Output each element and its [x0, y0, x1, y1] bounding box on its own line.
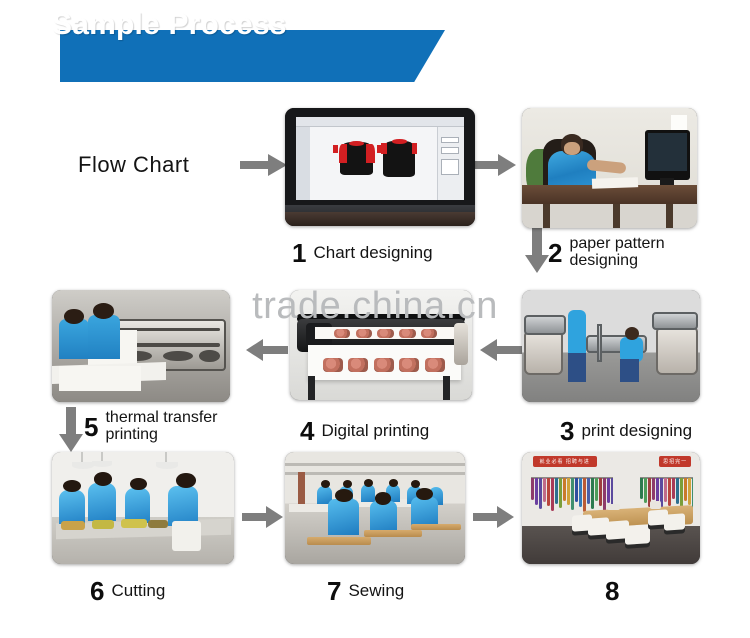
- flow-chart-heading: Flow Chart: [78, 152, 189, 178]
- arrow-flowchart-to-step1-icon: [240, 152, 288, 178]
- step-7-photo: [285, 452, 465, 564]
- arrow-step1-to-step2-icon: [473, 152, 517, 178]
- arrow-step3-to-step4-icon: [480, 337, 522, 363]
- step-1-label: Chart designing: [313, 244, 432, 262]
- step-3-caption: 3 print designing: [560, 418, 692, 444]
- step-8-photo: 就业必看 招聘与进 思招完一: [522, 452, 700, 564]
- arrow-step4-to-step5-icon: [246, 337, 288, 363]
- step-6-label: Cutting: [111, 582, 165, 600]
- step-3-label: print designing: [581, 422, 692, 440]
- step-7-number: 7: [327, 578, 341, 604]
- step-2-caption: 2 paper pattern designing: [548, 236, 665, 270]
- step-1-photo: [285, 108, 475, 226]
- step-1-caption: 1 Chart designing: [292, 240, 433, 266]
- step-6-photo: [52, 452, 234, 564]
- arrow-step5-to-step6-icon: [58, 407, 84, 453]
- arrow-step7-to-step8-icon: [473, 504, 515, 530]
- step-2-photo: [522, 108, 697, 228]
- step-7-caption: 7 Sewing: [327, 578, 404, 604]
- step-8-caption: 8: [605, 578, 626, 604]
- step-2-number: 2: [548, 240, 562, 266]
- step-5-photo: [52, 290, 230, 402]
- step-4-number: 4: [300, 418, 314, 444]
- step-4-caption: 4 Digital printing: [300, 418, 429, 444]
- arrow-step6-to-step7-icon: [242, 504, 284, 530]
- sample-process-infographic: Sample Process Flow Chart: [0, 0, 750, 638]
- page-title: Sample Process: [52, 8, 287, 42]
- step-6-caption: 6 Cutting: [90, 578, 165, 604]
- step-2-label: paper pattern designing: [569, 236, 664, 270]
- step-5-caption: 5 thermal transfer printing: [84, 410, 218, 444]
- step-3-photo: [522, 290, 700, 402]
- step-8-number: 8: [605, 578, 619, 604]
- step-7-label: Sewing: [348, 582, 404, 600]
- step-4-photo: [290, 290, 472, 400]
- step-5-number: 5: [84, 414, 98, 440]
- arrow-step2-to-step3-icon: [524, 228, 550, 274]
- step-4-label: Digital printing: [321, 422, 429, 440]
- step-1-number: 1: [292, 240, 306, 266]
- step-5-label: thermal transfer printing: [105, 410, 217, 444]
- step-3-number: 3: [560, 418, 574, 444]
- step-6-number: 6: [90, 578, 104, 604]
